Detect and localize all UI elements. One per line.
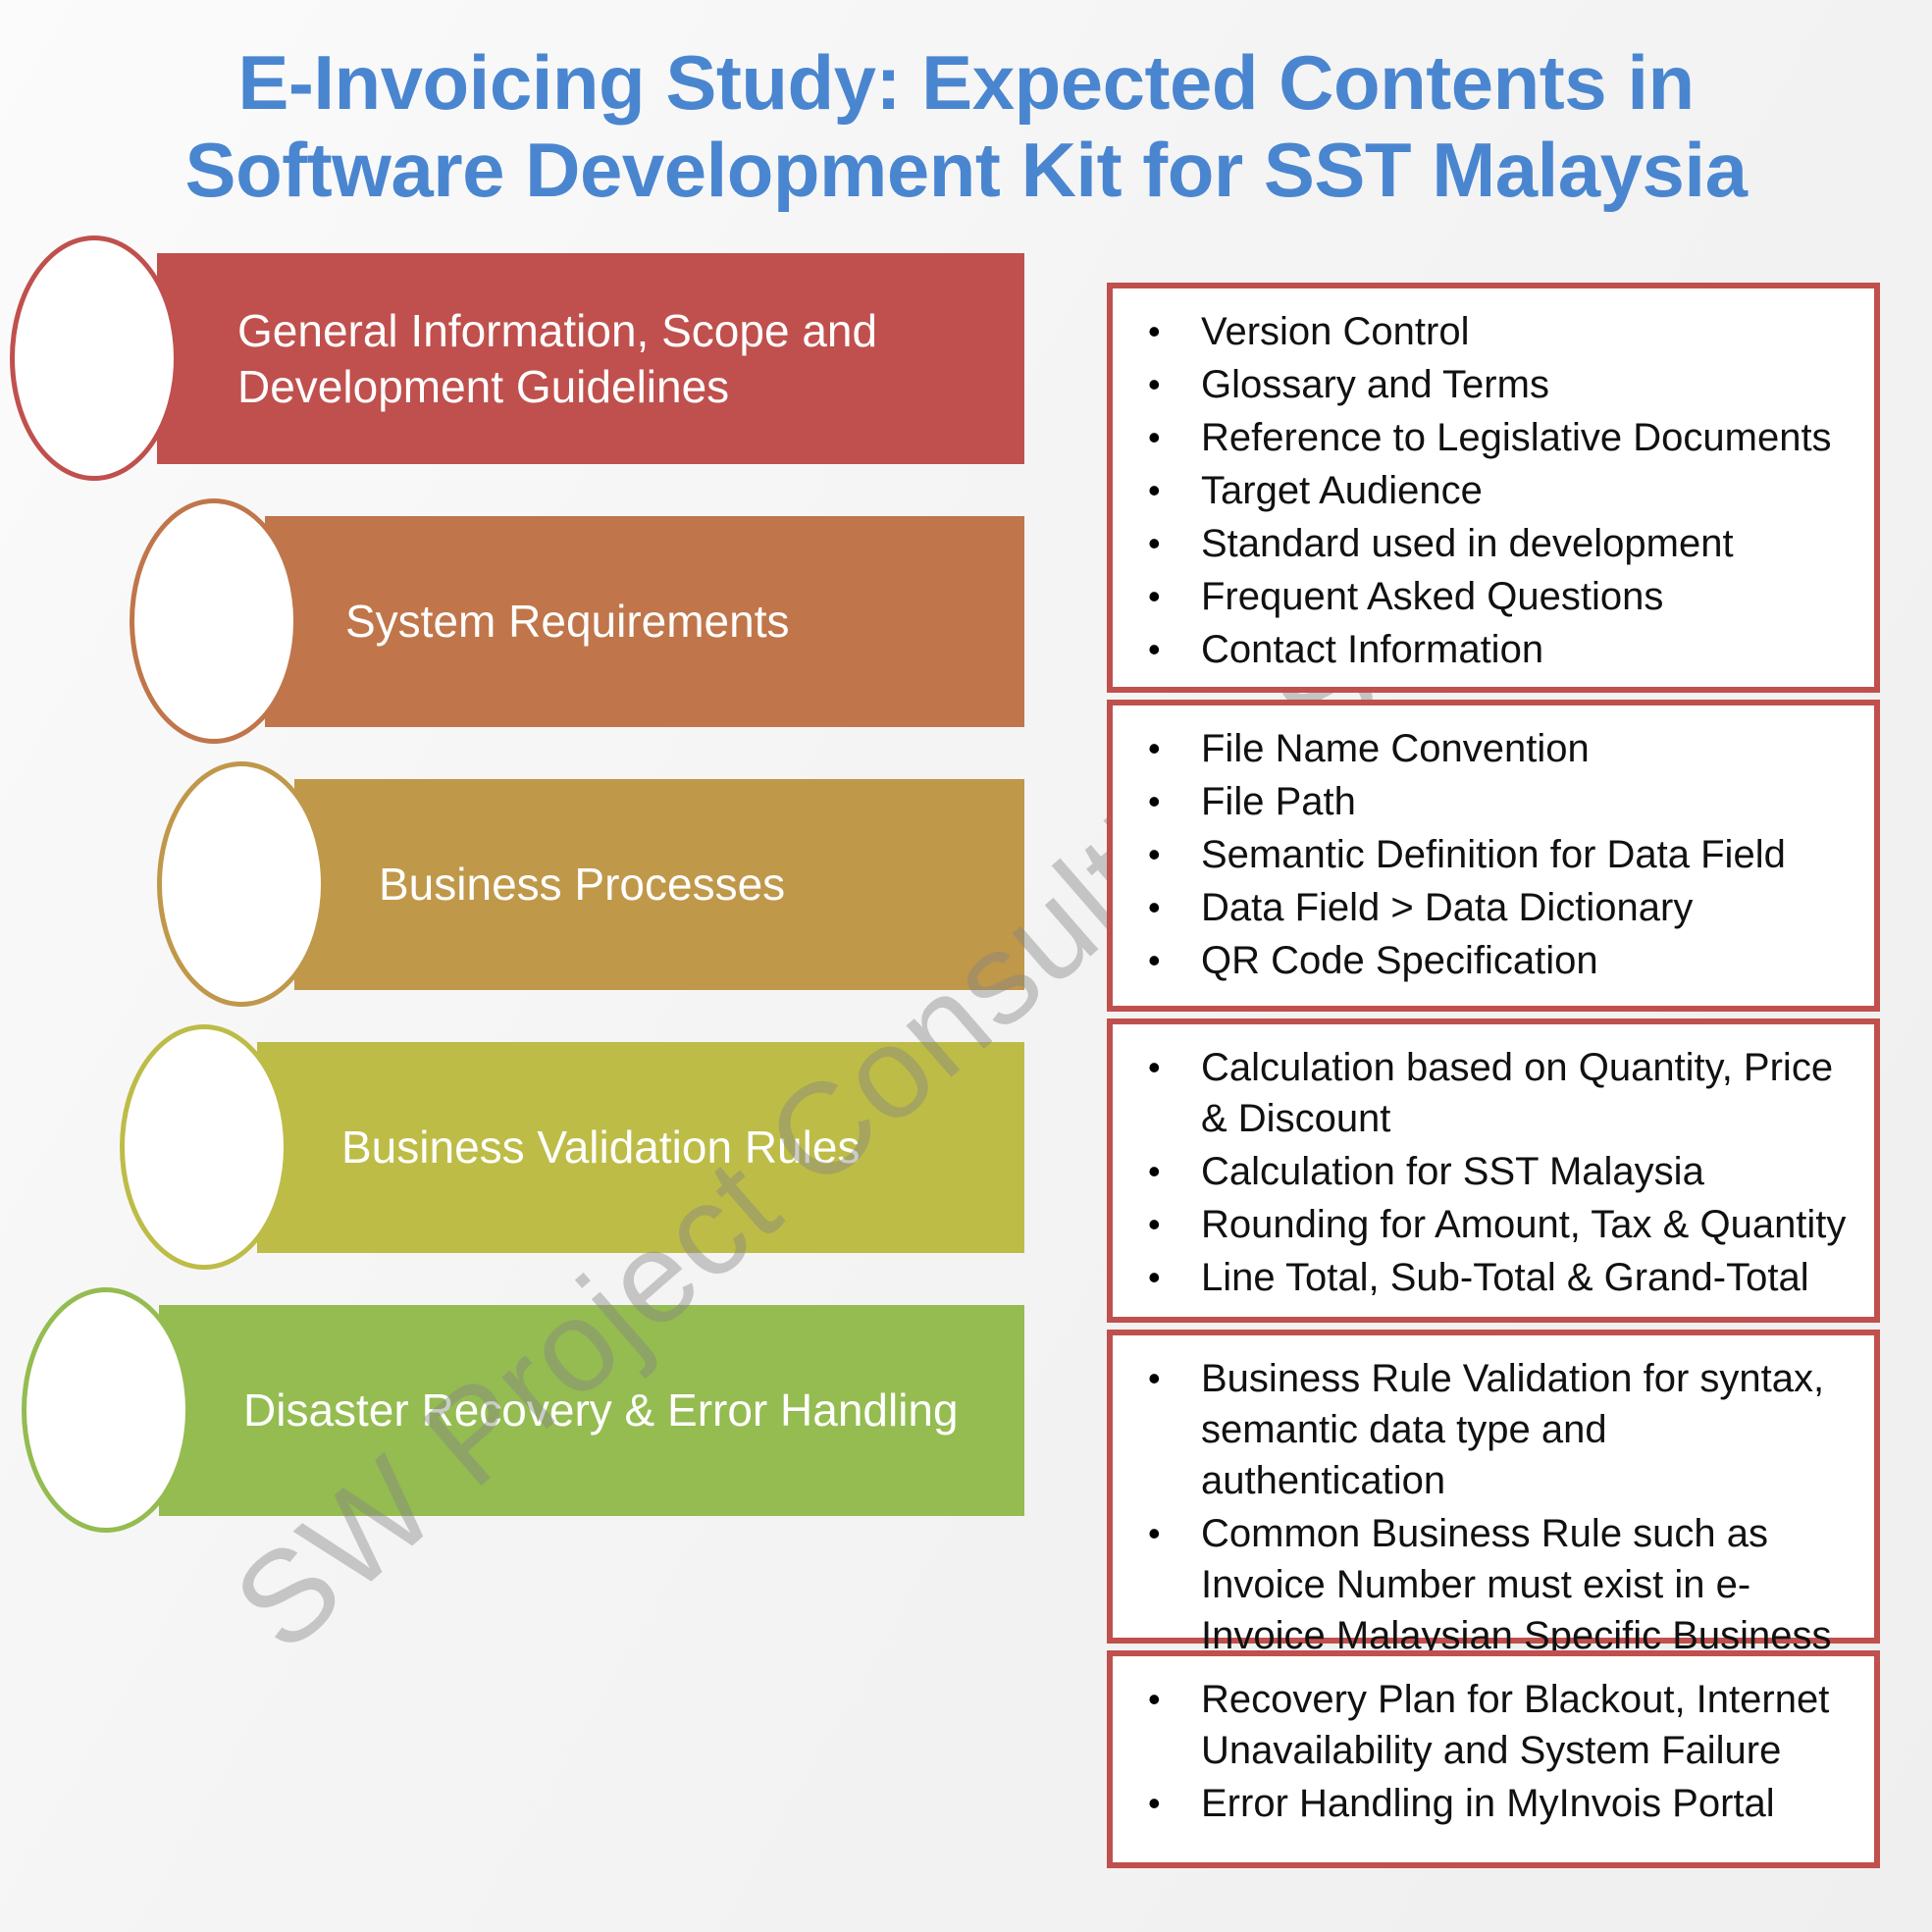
funnel-stage-row[interactable]: System Requirements — [0, 498, 1050, 744]
list-item: •Rounding for Amount, Tax & Quantity — [1130, 1199, 1853, 1250]
details-box: •Recovery Plan for Blackout, Internet Un… — [1107, 1650, 1880, 1868]
list-item: •Business Rule Validation for syntax, se… — [1130, 1353, 1853, 1506]
list-item: •File Name Convention — [1130, 723, 1853, 774]
details-box: •File Name Convention•File Path•Semantic… — [1107, 700, 1880, 1012]
list-item-text: Rounding for Amount, Tax & Quantity — [1201, 1199, 1853, 1250]
funnel-stage-bar[interactable]: System Requirements — [265, 516, 1024, 727]
details-box: •Business Rule Validation for syntax, se… — [1107, 1330, 1880, 1644]
list-item-text: Target Audience — [1201, 465, 1853, 516]
stage-funnel-column: General Information, Scope and Developme… — [0, 235, 1050, 1884]
bullet-dot-icon: • — [1130, 882, 1201, 932]
bullet-dot-icon: • — [1130, 359, 1201, 409]
list-item-text: Recovery Plan for Blackout, Internet Una… — [1201, 1674, 1853, 1776]
funnel-stage-label: Business Validation Rules — [257, 1120, 885, 1175]
list-item: •Semantic Definition for Data Field — [1130, 829, 1853, 880]
list-item: •Contact Information — [1130, 624, 1853, 675]
list-item-text: Calculation for SST Malaysia — [1201, 1146, 1853, 1197]
funnel-stage-label: System Requirements — [265, 594, 815, 649]
bullet-dot-icon: • — [1130, 624, 1201, 674]
funnel-stage-row[interactable]: Disaster Recovery & Error Handling — [0, 1287, 1050, 1533]
list-item: •Calculation based on Quantity, Price & … — [1130, 1042, 1853, 1144]
list-item-text: File Name Convention — [1201, 723, 1853, 774]
funnel-stage-row[interactable]: Business Processes — [0, 761, 1050, 1007]
list-item-text: Business Rule Validation for syntax, sem… — [1201, 1353, 1853, 1506]
page-title: E-Invoicing Study: Expected Contents in … — [0, 39, 1932, 214]
funnel-stage-ellipse — [130, 498, 298, 744]
funnel-stage-bar[interactable]: Business Processes — [294, 779, 1024, 990]
list-item-text: Reference to Legislative Documents — [1201, 412, 1853, 463]
bullet-dot-icon: • — [1130, 465, 1201, 515]
details-list: •Calculation based on Quantity, Price & … — [1130, 1042, 1853, 1303]
funnel-stage-ellipse — [120, 1024, 288, 1270]
bullet-dot-icon: • — [1130, 723, 1201, 773]
bullet-dot-icon: • — [1130, 935, 1201, 985]
list-item: •Calculation for SST Malaysia — [1130, 1146, 1853, 1197]
infographic-canvas: E-Invoicing Study: Expected Contents in … — [0, 0, 1932, 1932]
list-item-text: Data Field > Data Dictionary — [1201, 882, 1853, 933]
list-item: •Recovery Plan for Blackout, Internet Un… — [1130, 1674, 1853, 1776]
details-list: •Version Control•Glossary and Terms•Refe… — [1130, 306, 1853, 675]
funnel-stage-label: Disaster Recovery & Error Handling — [159, 1383, 984, 1437]
bullet-dot-icon: • — [1130, 1353, 1201, 1403]
details-list: •Recovery Plan for Blackout, Internet Un… — [1130, 1674, 1853, 1829]
list-item: •Target Audience — [1130, 465, 1853, 516]
bullet-dot-icon: • — [1130, 776, 1201, 826]
list-item: •File Path — [1130, 776, 1853, 827]
list-item: •Frequent Asked Questions — [1130, 571, 1853, 622]
list-item-text: Error Handling in MyInvois Portal — [1201, 1778, 1853, 1829]
funnel-stage-label: General Information, Scope and Developme… — [157, 303, 1024, 413]
funnel-stage-ellipse — [10, 235, 179, 481]
bullet-dot-icon: • — [1130, 412, 1201, 462]
list-item-text: QR Code Specification — [1201, 935, 1853, 986]
funnel-stage-row[interactable]: General Information, Scope and Developme… — [0, 235, 1050, 481]
list-item-text: Glossary and Terms — [1201, 359, 1853, 410]
bullet-dot-icon: • — [1130, 1199, 1201, 1249]
funnel-stage-ellipse — [22, 1287, 190, 1533]
bullet-dot-icon: • — [1130, 829, 1201, 879]
list-item-text: File Path — [1201, 776, 1853, 827]
details-column: •Version Control•Glossary and Terms•Refe… — [1107, 283, 1880, 1875]
list-item: •QR Code Specification — [1130, 935, 1853, 986]
list-item: •Error Handling in MyInvois Portal — [1130, 1778, 1853, 1829]
list-item-text: Version Control — [1201, 306, 1853, 357]
list-item: •Standard used in development — [1130, 518, 1853, 569]
list-item-text: Contact Information — [1201, 624, 1853, 675]
bullet-dot-icon: • — [1130, 1508, 1201, 1558]
funnel-stage-bar[interactable]: General Information, Scope and Developme… — [157, 253, 1024, 464]
funnel-stage-row[interactable]: Business Validation Rules — [0, 1024, 1050, 1270]
bullet-dot-icon: • — [1130, 571, 1201, 621]
list-item-text: Frequent Asked Questions — [1201, 571, 1853, 622]
funnel-stage-bar[interactable]: Business Validation Rules — [257, 1042, 1024, 1253]
bullet-dot-icon: • — [1130, 1042, 1201, 1092]
funnel-stage-ellipse — [157, 761, 326, 1007]
bullet-dot-icon: • — [1130, 1778, 1201, 1828]
list-item: •Version Control — [1130, 306, 1853, 357]
list-item-text: Line Total, Sub-Total & Grand-Total — [1201, 1252, 1853, 1303]
details-box: •Calculation based on Quantity, Price & … — [1107, 1018, 1880, 1323]
bullet-dot-icon: • — [1130, 1146, 1201, 1196]
bullet-dot-icon: • — [1130, 1674, 1201, 1724]
funnel-stage-bar[interactable]: Disaster Recovery & Error Handling — [159, 1305, 1024, 1516]
list-item-text: Calculation based on Quantity, Price & D… — [1201, 1042, 1853, 1144]
details-box: •Version Control•Glossary and Terms•Refe… — [1107, 283, 1880, 693]
list-item-text: Semantic Definition for Data Field — [1201, 829, 1853, 880]
list-item: •Data Field > Data Dictionary — [1130, 882, 1853, 933]
funnel-stage-label: Business Processes — [294, 857, 810, 912]
bullet-dot-icon: • — [1130, 1252, 1201, 1302]
list-item: •Glossary and Terms — [1130, 359, 1853, 410]
list-item: •Line Total, Sub-Total & Grand-Total — [1130, 1252, 1853, 1303]
bullet-dot-icon: • — [1130, 518, 1201, 568]
bullet-dot-icon: • — [1130, 306, 1201, 356]
list-item-text: Standard used in development — [1201, 518, 1853, 569]
details-list: •File Name Convention•File Path•Semantic… — [1130, 723, 1853, 986]
list-item: •Reference to Legislative Documents — [1130, 412, 1853, 463]
